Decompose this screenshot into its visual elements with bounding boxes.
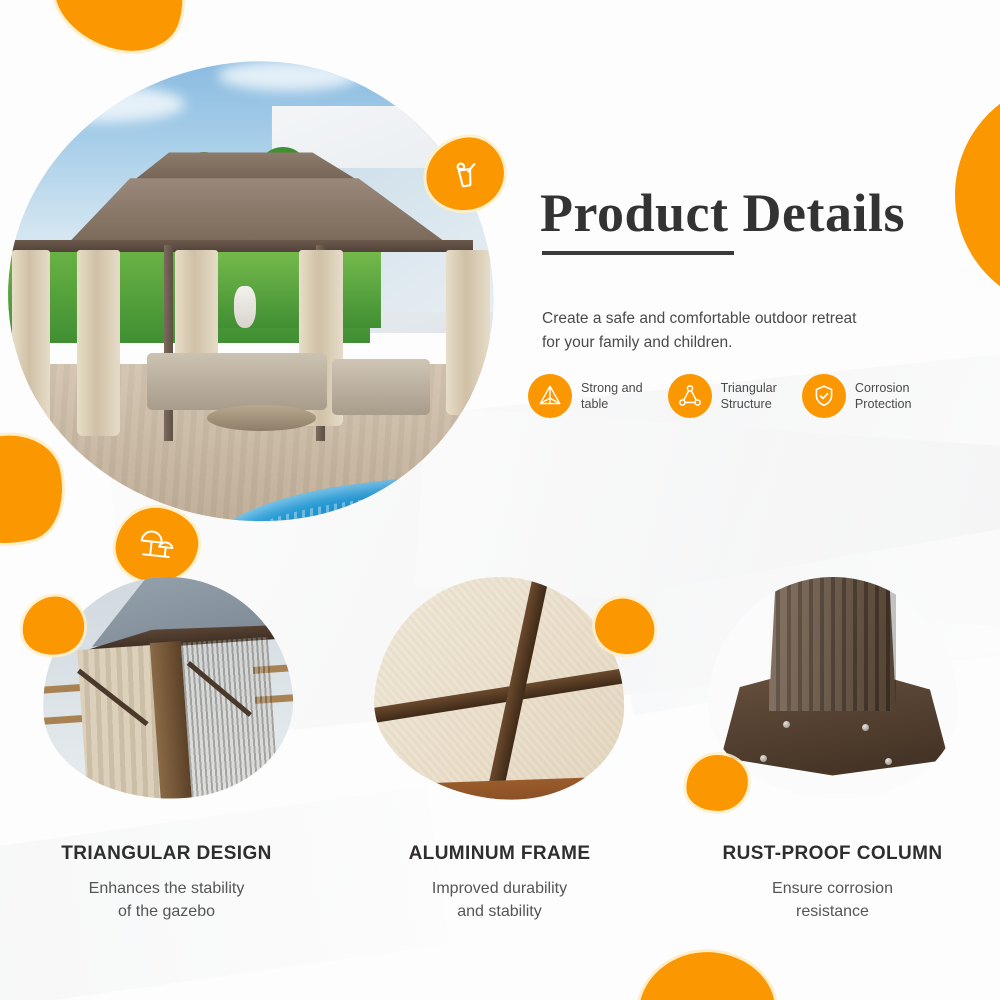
card-description: Enhances the stability of the gazebo bbox=[0, 877, 333, 923]
feature-corrosion-protection: Corrosion Protection bbox=[802, 374, 912, 418]
bolt bbox=[760, 755, 767, 762]
card-description: Improved durability and stability bbox=[333, 877, 666, 923]
coffee-table bbox=[207, 405, 316, 431]
gazebo-post bbox=[164, 246, 173, 442]
detail-card: ALUMINUM FRAME Improved durability and s… bbox=[333, 575, 666, 955]
pyramid-icon-circle bbox=[528, 374, 572, 418]
card-photo-inner bbox=[708, 577, 958, 799]
shield-check-icon bbox=[811, 383, 837, 409]
card-title: RUST-PROOF COLUMN bbox=[666, 843, 999, 865]
cloud bbox=[218, 60, 359, 91]
outdoor-chair bbox=[332, 359, 430, 416]
card-photo-aluminum-frame bbox=[369, 571, 630, 806]
column-sheen bbox=[769, 577, 897, 711]
pyramid-icon bbox=[537, 383, 563, 409]
title-underline bbox=[542, 251, 734, 255]
vase bbox=[234, 287, 256, 328]
card-photo-inner bbox=[369, 571, 630, 806]
cloud bbox=[22, 86, 185, 122]
detail-card: TRIANGULAR DESIGN Enhances the stability… bbox=[0, 575, 333, 955]
hero-gazebo-photo bbox=[0, 46, 508, 539]
card-title: ALUMINUM FRAME bbox=[333, 843, 666, 865]
page-subtitle: Create a safe and comfortable outdoor re… bbox=[542, 307, 862, 355]
feature-list: Strong and table Triangular Structure bbox=[528, 374, 988, 418]
triangle-nodes-icon bbox=[677, 383, 703, 409]
detail-card-row: TRIANGULAR DESIGN Enhances the stability… bbox=[0, 575, 1000, 955]
beach-parasol-icon bbox=[135, 525, 179, 565]
bolt bbox=[862, 724, 869, 731]
card-description: Ensure corrosion resistance bbox=[666, 877, 999, 923]
mosquito-mesh bbox=[181, 637, 280, 807]
page-title: Product Details bbox=[540, 185, 970, 242]
header-text-column: Product Details Create a safe and comfor… bbox=[540, 185, 970, 355]
card-photo-rust-proof-column bbox=[708, 577, 958, 799]
gazebo-curtain bbox=[11, 251, 49, 426]
feature-label: Strong and table bbox=[581, 380, 643, 413]
hero-image-mask bbox=[0, 46, 508, 539]
triangle-nodes-icon-circle bbox=[668, 374, 712, 418]
cocktail-drink-icon bbox=[446, 155, 484, 193]
shield-check-icon-circle bbox=[802, 374, 846, 418]
detail-card: RUST-PROOF COLUMN Ensure corrosion resis… bbox=[666, 575, 999, 955]
bolt bbox=[885, 758, 892, 765]
outdoor-sofa bbox=[147, 354, 326, 411]
hero-image-container bbox=[8, 62, 493, 522]
gazebo-curtain bbox=[446, 251, 489, 416]
feature-label: Triangular Structure bbox=[721, 380, 777, 413]
gazebo-roof-edge bbox=[6, 240, 473, 252]
decorative-blob-top bbox=[41, 0, 199, 65]
gazebo-curtain bbox=[77, 251, 120, 436]
feature-strong-and-stable: Strong and table bbox=[528, 374, 643, 418]
feature-triangular-structure: Triangular Structure bbox=[668, 374, 777, 418]
feature-label: Corrosion Protection bbox=[855, 380, 912, 413]
card-title: TRIANGULAR DESIGN bbox=[0, 843, 333, 865]
product-details-page: Product Details Create a safe and comfor… bbox=[0, 0, 1000, 1000]
